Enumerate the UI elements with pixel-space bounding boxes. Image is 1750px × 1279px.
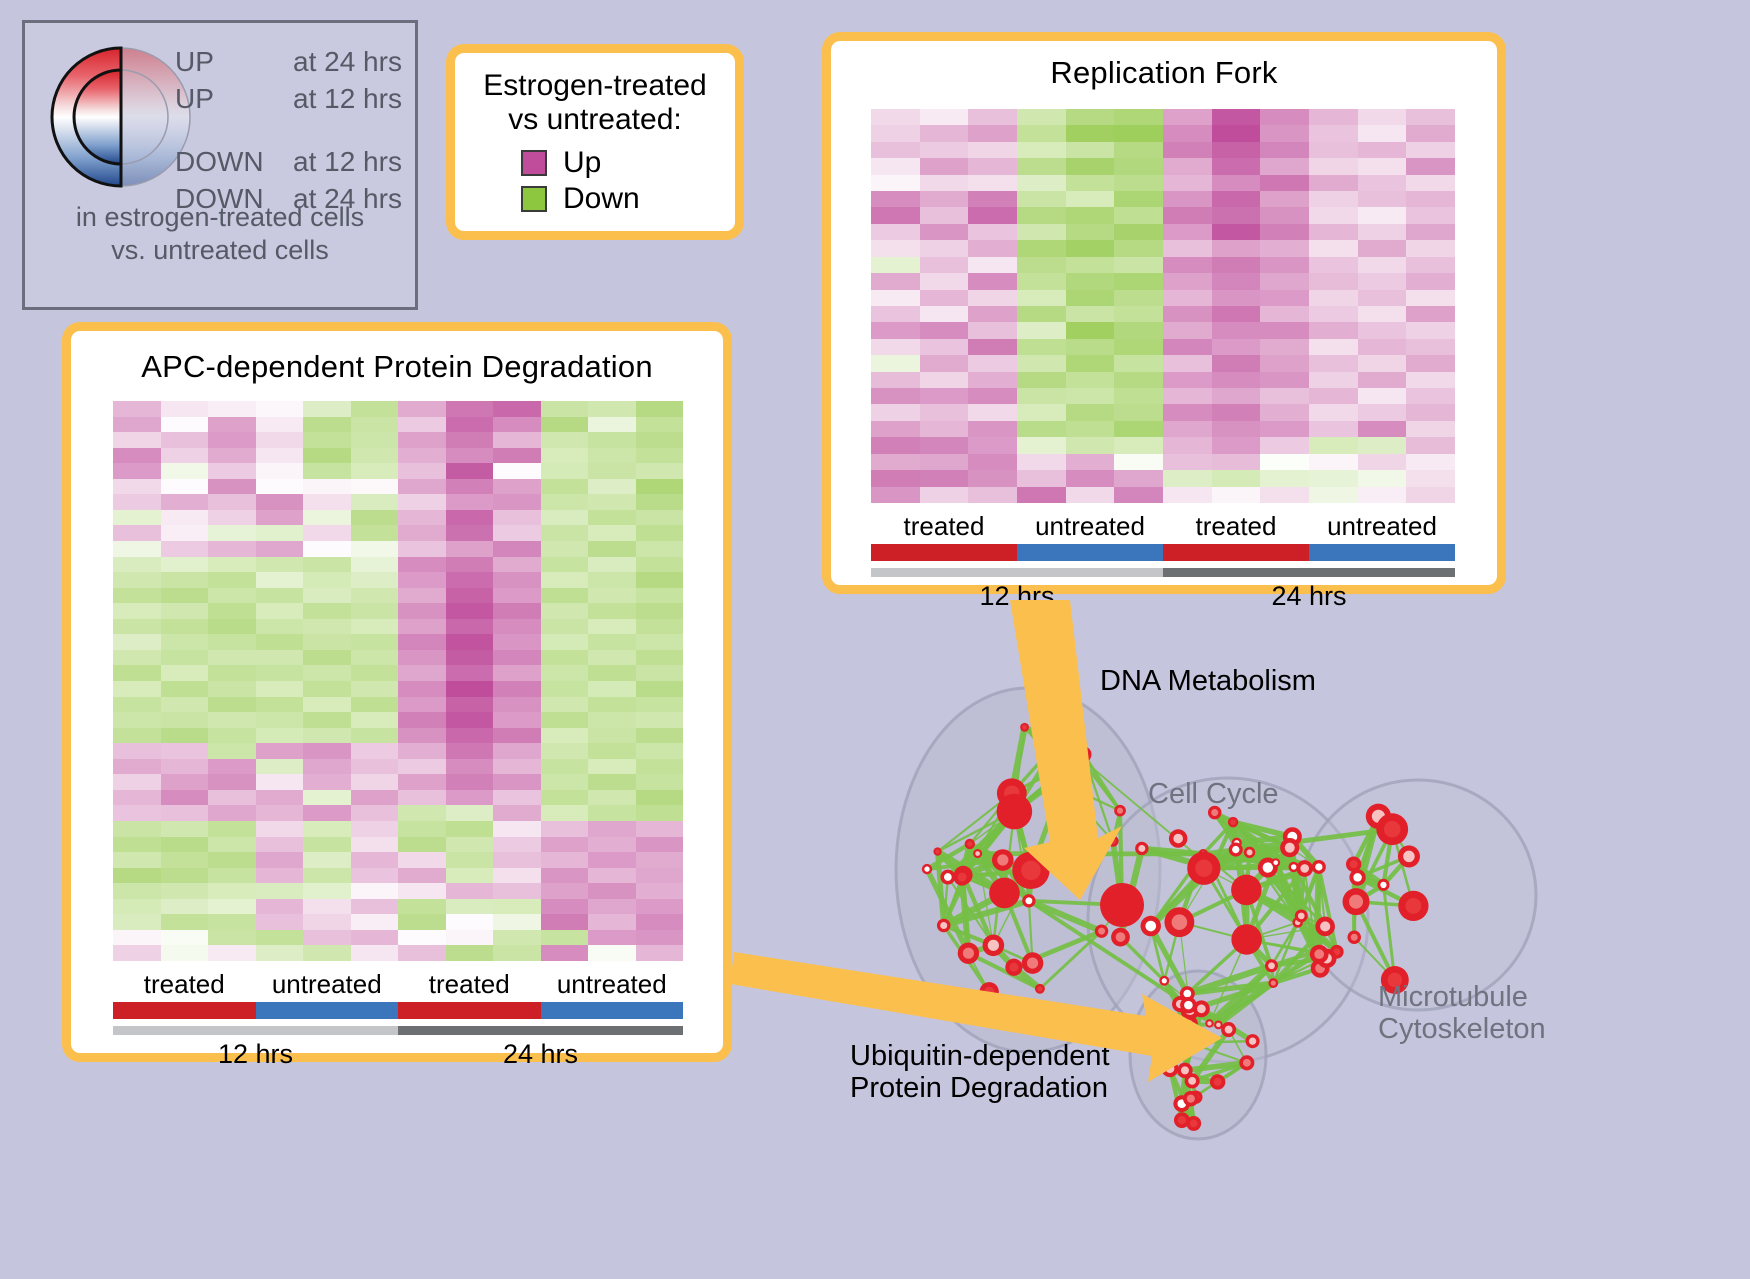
heatmap-cell bbox=[493, 837, 541, 853]
heatmap-cell bbox=[208, 697, 256, 713]
heatmap-cell bbox=[398, 650, 446, 666]
heatmap-cell bbox=[493, 448, 541, 464]
heatmap-cell bbox=[1163, 257, 1212, 273]
heatmap-cell bbox=[920, 175, 969, 191]
heatmap-cell bbox=[636, 494, 684, 510]
heatmap-cell bbox=[398, 510, 446, 526]
heatmap-cell bbox=[1406, 437, 1455, 453]
apc-bar-treated-12 bbox=[113, 1002, 256, 1019]
heatmap-cell bbox=[113, 494, 161, 510]
apc-group-labels: treated untreated treated untreated bbox=[113, 969, 683, 1000]
heatmap-cell bbox=[968, 437, 1017, 453]
heatmap-cell bbox=[636, 588, 684, 604]
heatmap-cell bbox=[161, 899, 209, 915]
heatmap-cell bbox=[541, 525, 589, 541]
heatmap-cell bbox=[493, 805, 541, 821]
heatmap-cell bbox=[303, 883, 351, 899]
heatmap-cell bbox=[1358, 290, 1407, 306]
heatmap-cell bbox=[1212, 306, 1261, 322]
heatmap-cell bbox=[208, 557, 256, 573]
heatmap-cell bbox=[1309, 339, 1358, 355]
heatmap-cell bbox=[968, 207, 1017, 223]
heatmap-cell bbox=[1358, 273, 1407, 289]
heatmap-cell bbox=[398, 759, 446, 775]
heatmap-cell bbox=[208, 681, 256, 697]
heatmap-cell bbox=[398, 557, 446, 573]
heatmap-cell bbox=[256, 883, 304, 899]
heatmap-cell bbox=[636, 463, 684, 479]
heatmap-cell bbox=[541, 619, 589, 635]
up-label: Up bbox=[563, 146, 601, 180]
heatmap-cell bbox=[1114, 437, 1163, 453]
heatmap-cell bbox=[398, 463, 446, 479]
heatmap-cell bbox=[1212, 470, 1261, 486]
heatmap-cell bbox=[493, 634, 541, 650]
replication-fork-time-labels: 12 hrs 24 hrs bbox=[871, 581, 1455, 612]
heatmap-cell bbox=[920, 191, 969, 207]
heatmap-cell bbox=[446, 603, 494, 619]
heatmap-cell bbox=[208, 619, 256, 635]
heatmap-cell bbox=[920, 404, 969, 420]
heatmap-cell bbox=[1017, 273, 1066, 289]
heatmap-cell bbox=[541, 603, 589, 619]
heatmap-cell bbox=[256, 588, 304, 604]
heatmap-cell bbox=[493, 790, 541, 806]
heatmap-cell bbox=[1066, 372, 1115, 388]
wheel-legend-rows: UPat 24 hrs UPat 12 hrs DOWNat 12 hrs DO… bbox=[175, 43, 402, 217]
heatmap-cell bbox=[588, 681, 636, 697]
heatmap-cell bbox=[1163, 207, 1212, 223]
heatmap-cell bbox=[398, 479, 446, 495]
heatmap-cell bbox=[303, 572, 351, 588]
heatmap-cell bbox=[161, 868, 209, 884]
heatmap-cell bbox=[588, 401, 636, 417]
heatmap-cell bbox=[871, 470, 920, 486]
heatmap-cell bbox=[351, 852, 399, 868]
heatmap-cell bbox=[1114, 109, 1163, 125]
heatmap-cell bbox=[1163, 175, 1212, 191]
heatmap-cell bbox=[1260, 142, 1309, 158]
heatmap-cell bbox=[1163, 224, 1212, 240]
heatmap-cell bbox=[1114, 224, 1163, 240]
wheel-legend-caption: in estrogen-treated cells vs. untreated … bbox=[25, 201, 415, 267]
heatmap-cell bbox=[871, 306, 920, 322]
replication-fork-group-labels: treated untreated treated untreated bbox=[871, 511, 1455, 542]
cluster-label-ubiquitin-degradation: Ubiquitin-dependent Protein Degradation bbox=[850, 1040, 1110, 1105]
heatmap-cell bbox=[636, 572, 684, 588]
heatmap-cell bbox=[1358, 487, 1407, 503]
heatmap-cell bbox=[113, 868, 161, 884]
heatmap-cell bbox=[588, 821, 636, 837]
heatmap-cell bbox=[446, 697, 494, 713]
heatmap-cell bbox=[161, 743, 209, 759]
heatmap-cell bbox=[541, 650, 589, 666]
heatmap-cell bbox=[588, 448, 636, 464]
heatmap-cell bbox=[161, 914, 209, 930]
up-down-title-line2: vs untreated: bbox=[455, 103, 735, 137]
heatmap-cell bbox=[256, 899, 304, 915]
heatmap-cell bbox=[303, 774, 351, 790]
heatmap-cell bbox=[636, 899, 684, 915]
heatmap-cell bbox=[256, 557, 304, 573]
heatmap-cell bbox=[1163, 240, 1212, 256]
heatmap-cell bbox=[920, 437, 969, 453]
heatmap-cell bbox=[636, 697, 684, 713]
heatmap-cell bbox=[1017, 404, 1066, 420]
heatmap-cell bbox=[1260, 470, 1309, 486]
heatmap-cell bbox=[303, 401, 351, 417]
heatmap-cell bbox=[636, 634, 684, 650]
heatmap-cell bbox=[161, 805, 209, 821]
heatmap-cell bbox=[493, 914, 541, 930]
heatmap-cell bbox=[1260, 175, 1309, 191]
heatmap-cell bbox=[1358, 306, 1407, 322]
heatmap-cell bbox=[920, 240, 969, 256]
heatmap-cell bbox=[398, 588, 446, 604]
heatmap-cell bbox=[541, 401, 589, 417]
heatmap-cell bbox=[303, 479, 351, 495]
heatmap-cell bbox=[1358, 372, 1407, 388]
heatmap-cell bbox=[303, 510, 351, 526]
heatmap-cell bbox=[303, 899, 351, 915]
heatmap-cell bbox=[871, 191, 920, 207]
heatmap-cell bbox=[303, 790, 351, 806]
heatmap-cell bbox=[446, 494, 494, 510]
replication-fork-panel: Replication Fork treated untreated treat… bbox=[822, 32, 1506, 594]
heatmap-cell bbox=[1017, 306, 1066, 322]
heatmap-cell bbox=[256, 914, 304, 930]
heatmap-cell bbox=[968, 273, 1017, 289]
heatmap-cell bbox=[1212, 240, 1261, 256]
heatmap-cell bbox=[493, 603, 541, 619]
heatmap-cell bbox=[1114, 175, 1163, 191]
heatmap-cell bbox=[588, 930, 636, 946]
heatmap-cell bbox=[871, 487, 920, 503]
wheel-label-up24: UP bbox=[175, 43, 293, 80]
heatmap-cell bbox=[208, 852, 256, 868]
heatmap-cell bbox=[871, 437, 920, 453]
heatmap-cell bbox=[1212, 421, 1261, 437]
heatmap-cell bbox=[636, 945, 684, 961]
heatmap-cell bbox=[208, 634, 256, 650]
heatmap-cell bbox=[161, 852, 209, 868]
heatmap-cell bbox=[113, 557, 161, 573]
heatmap-cell bbox=[493, 821, 541, 837]
heatmap-cell bbox=[351, 743, 399, 759]
heatmap-cell bbox=[1212, 339, 1261, 355]
up-down-legend-card: Estrogen-treated vs untreated: Up Down bbox=[446, 44, 744, 240]
heatmap-cell bbox=[256, 697, 304, 713]
heatmap-cell bbox=[208, 603, 256, 619]
heatmap-cell bbox=[256, 541, 304, 557]
down-label: Down bbox=[563, 182, 640, 216]
apc-group-label-untreated-12: untreated bbox=[256, 969, 399, 1000]
heatmap-cell bbox=[351, 603, 399, 619]
heatmap-cell bbox=[1114, 207, 1163, 223]
heatmap-cell bbox=[541, 743, 589, 759]
heatmap-cell bbox=[1309, 388, 1358, 404]
heatmap-cell bbox=[493, 945, 541, 961]
apc-time-bar-24 bbox=[398, 1026, 683, 1035]
heatmap-cell bbox=[1406, 372, 1455, 388]
heatmap-cell bbox=[493, 525, 541, 541]
heatmap-cell bbox=[588, 479, 636, 495]
heatmap-cell bbox=[1358, 224, 1407, 240]
heatmap-cell bbox=[493, 697, 541, 713]
heatmap-cell bbox=[1212, 158, 1261, 174]
heatmap-cell bbox=[968, 306, 1017, 322]
heatmap-cell bbox=[541, 759, 589, 775]
heatmap-cell bbox=[161, 945, 209, 961]
heatmap-cell bbox=[1212, 487, 1261, 503]
heatmap-cell bbox=[113, 665, 161, 681]
heatmap-cell bbox=[493, 743, 541, 759]
heatmap-cell bbox=[351, 868, 399, 884]
heatmap-cell bbox=[303, 837, 351, 853]
heatmap-cell bbox=[1066, 109, 1115, 125]
heatmap-cell bbox=[1066, 388, 1115, 404]
heatmap-cell bbox=[588, 510, 636, 526]
heatmap-cell bbox=[1163, 355, 1212, 371]
heatmap-cell bbox=[1358, 158, 1407, 174]
heatmap-cell bbox=[1114, 339, 1163, 355]
heatmap-cell bbox=[493, 432, 541, 448]
heatmap-cell bbox=[256, 417, 304, 433]
heatmap-cell bbox=[1260, 273, 1309, 289]
heatmap-cell bbox=[351, 510, 399, 526]
heatmap-cell bbox=[1114, 404, 1163, 420]
heatmap-cell bbox=[446, 899, 494, 915]
heatmap-cell bbox=[1114, 240, 1163, 256]
heatmap-cell bbox=[968, 109, 1017, 125]
heatmap-cell bbox=[1017, 339, 1066, 355]
heatmap-cell bbox=[541, 728, 589, 744]
heatmap-cell bbox=[493, 665, 541, 681]
heatmap-cell bbox=[446, 557, 494, 573]
heatmap-cell bbox=[1358, 355, 1407, 371]
heatmap-cell bbox=[871, 339, 920, 355]
heatmap-cell bbox=[208, 479, 256, 495]
heatmap-cell bbox=[1114, 470, 1163, 486]
heatmap-cell bbox=[920, 158, 969, 174]
heatmap-cell bbox=[398, 432, 446, 448]
heatmap-cell bbox=[1066, 322, 1115, 338]
heatmap-cell bbox=[113, 821, 161, 837]
heatmap-cell bbox=[256, 868, 304, 884]
heatmap-cell bbox=[208, 883, 256, 899]
figure-canvas: UPat 24 hrs UPat 12 hrs DOWNat 12 hrs DO… bbox=[0, 0, 1750, 1279]
cluster-label-cell-cycle: Cell Cycle bbox=[1148, 778, 1279, 810]
time-bar-24 bbox=[1163, 568, 1455, 577]
heatmap-cell bbox=[208, 945, 256, 961]
heatmap-cell bbox=[256, 494, 304, 510]
heatmap-cell bbox=[1260, 257, 1309, 273]
heatmap-cell bbox=[161, 681, 209, 697]
heatmap-cell bbox=[968, 290, 1017, 306]
heatmap-cell bbox=[588, 868, 636, 884]
heatmap-cell bbox=[398, 401, 446, 417]
heatmap-cell bbox=[161, 930, 209, 946]
heatmap-cell bbox=[1406, 421, 1455, 437]
heatmap-cell bbox=[113, 774, 161, 790]
heatmap-cell bbox=[968, 339, 1017, 355]
heatmap-cell bbox=[588, 665, 636, 681]
heatmap-cell bbox=[208, 572, 256, 588]
heatmap-cell bbox=[351, 541, 399, 557]
heatmap-cell bbox=[588, 743, 636, 759]
heatmap-cell bbox=[113, 432, 161, 448]
heatmap-cell bbox=[446, 821, 494, 837]
heatmap-cell bbox=[446, 712, 494, 728]
heatmap-cell bbox=[161, 774, 209, 790]
heatmap-cell bbox=[1309, 437, 1358, 453]
heatmap-cell bbox=[351, 463, 399, 479]
heatmap-cell bbox=[113, 588, 161, 604]
heatmap-cell bbox=[1309, 306, 1358, 322]
heatmap-cell bbox=[208, 728, 256, 744]
heatmap-cell bbox=[1406, 404, 1455, 420]
arrow-replication-fork bbox=[1010, 600, 1122, 900]
heatmap-cell bbox=[541, 821, 589, 837]
heatmap-cell bbox=[446, 401, 494, 417]
heatmap-cell bbox=[1114, 191, 1163, 207]
heatmap-cell bbox=[303, 805, 351, 821]
heatmap-cell bbox=[113, 805, 161, 821]
apc-group-label-treated-24: treated bbox=[398, 969, 541, 1000]
heatmap-cell bbox=[968, 142, 1017, 158]
apc-group-label-treated-12: treated bbox=[113, 969, 256, 1000]
heatmap-cell bbox=[1406, 175, 1455, 191]
heatmap-cell bbox=[1212, 142, 1261, 158]
heatmap-cell bbox=[1017, 388, 1066, 404]
heatmap-cell bbox=[541, 790, 589, 806]
heatmap-cell bbox=[256, 728, 304, 744]
heatmap-cell bbox=[161, 572, 209, 588]
heatmap-cell bbox=[1212, 273, 1261, 289]
heatmap-cell bbox=[256, 572, 304, 588]
heatmap-cell bbox=[351, 525, 399, 541]
heatmap-cell bbox=[256, 790, 304, 806]
heatmap-cell bbox=[968, 158, 1017, 174]
heatmap-cell bbox=[113, 510, 161, 526]
heatmap-cell bbox=[161, 728, 209, 744]
heatmap-cell bbox=[871, 421, 920, 437]
heatmap-cell bbox=[636, 728, 684, 744]
heatmap-cell bbox=[113, 463, 161, 479]
bar-untreated-12 bbox=[1017, 544, 1163, 561]
heatmap-cell bbox=[871, 388, 920, 404]
heatmap-cell bbox=[113, 914, 161, 930]
heatmap-cell bbox=[1114, 322, 1163, 338]
heatmap-cell bbox=[256, 945, 304, 961]
heatmap-cell bbox=[351, 945, 399, 961]
heatmap-cell bbox=[920, 207, 969, 223]
heatmap-cell bbox=[446, 681, 494, 697]
heatmap-cell bbox=[1260, 388, 1309, 404]
heatmap-cell bbox=[161, 837, 209, 853]
heatmap-cell bbox=[256, 463, 304, 479]
heatmap-cell bbox=[588, 494, 636, 510]
heatmap-cell bbox=[113, 634, 161, 650]
heatmap-cell bbox=[1358, 240, 1407, 256]
heatmap-cell bbox=[968, 372, 1017, 388]
bar-treated-12 bbox=[871, 544, 1017, 561]
heatmap-cell bbox=[208, 541, 256, 557]
heatmap-cell bbox=[871, 207, 920, 223]
heatmap-cell bbox=[208, 805, 256, 821]
heatmap-cell bbox=[446, 805, 494, 821]
heatmap-cell bbox=[541, 914, 589, 930]
heatmap-cell bbox=[493, 401, 541, 417]
heatmap-cell bbox=[636, 868, 684, 884]
heatmap-cell bbox=[636, 837, 684, 853]
heatmap-cell bbox=[1066, 487, 1115, 503]
heatmap-cell bbox=[968, 322, 1017, 338]
heatmap-cell bbox=[446, 448, 494, 464]
heatmap-cell bbox=[161, 790, 209, 806]
heatmap-cell bbox=[398, 603, 446, 619]
heatmap-cell bbox=[636, 712, 684, 728]
heatmap-cell bbox=[1309, 404, 1358, 420]
heatmap-cell bbox=[1406, 224, 1455, 240]
heatmap-cell bbox=[636, 541, 684, 557]
heatmap-cell bbox=[208, 510, 256, 526]
heatmap-cell bbox=[161, 541, 209, 557]
cluster-label-microtubule-cytoskeleton: Microtubule Cytoskeleton bbox=[1378, 981, 1546, 1046]
heatmap-cell bbox=[351, 572, 399, 588]
heatmap-cell bbox=[351, 634, 399, 650]
heatmap-cell bbox=[1260, 306, 1309, 322]
heatmap-cell bbox=[1163, 125, 1212, 141]
heatmap-cell bbox=[636, 401, 684, 417]
heatmap-cell bbox=[1358, 142, 1407, 158]
heatmap-cell bbox=[1358, 175, 1407, 191]
heatmap-cell bbox=[208, 837, 256, 853]
heatmap-cell bbox=[398, 774, 446, 790]
heatmap-cell bbox=[493, 852, 541, 868]
heatmap-cell bbox=[588, 650, 636, 666]
replication-fork-heatmap bbox=[871, 109, 1455, 503]
heatmap-cell bbox=[303, 852, 351, 868]
heatmap-cell bbox=[1260, 487, 1309, 503]
heatmap-cell bbox=[113, 448, 161, 464]
heatmap-cell bbox=[1309, 240, 1358, 256]
heatmap-cell bbox=[1309, 355, 1358, 371]
heatmap-cell bbox=[1309, 421, 1358, 437]
heatmap-cell bbox=[588, 417, 636, 433]
heatmap-cell bbox=[871, 273, 920, 289]
heatmap-cell bbox=[493, 759, 541, 775]
heatmap-cell bbox=[541, 432, 589, 448]
heatmap-cell bbox=[588, 634, 636, 650]
heatmap-cell bbox=[256, 619, 304, 635]
heatmap-cell bbox=[351, 805, 399, 821]
heatmap-cell bbox=[1066, 306, 1115, 322]
heatmap-cell bbox=[968, 240, 1017, 256]
replication-fork-time-bar bbox=[871, 568, 1455, 577]
ub-label-line1: Ubiquitin-dependent bbox=[850, 1040, 1110, 1072]
heatmap-cell bbox=[1212, 372, 1261, 388]
heatmap-cell bbox=[351, 759, 399, 775]
heatmap-cell bbox=[588, 697, 636, 713]
heatmap-cell bbox=[1163, 109, 1212, 125]
heatmap-cell bbox=[398, 805, 446, 821]
heatmap-cell bbox=[351, 883, 399, 899]
heatmap-cell bbox=[208, 899, 256, 915]
heatmap-cell bbox=[351, 619, 399, 635]
heatmap-cell bbox=[1114, 158, 1163, 174]
heatmap-cell bbox=[588, 883, 636, 899]
